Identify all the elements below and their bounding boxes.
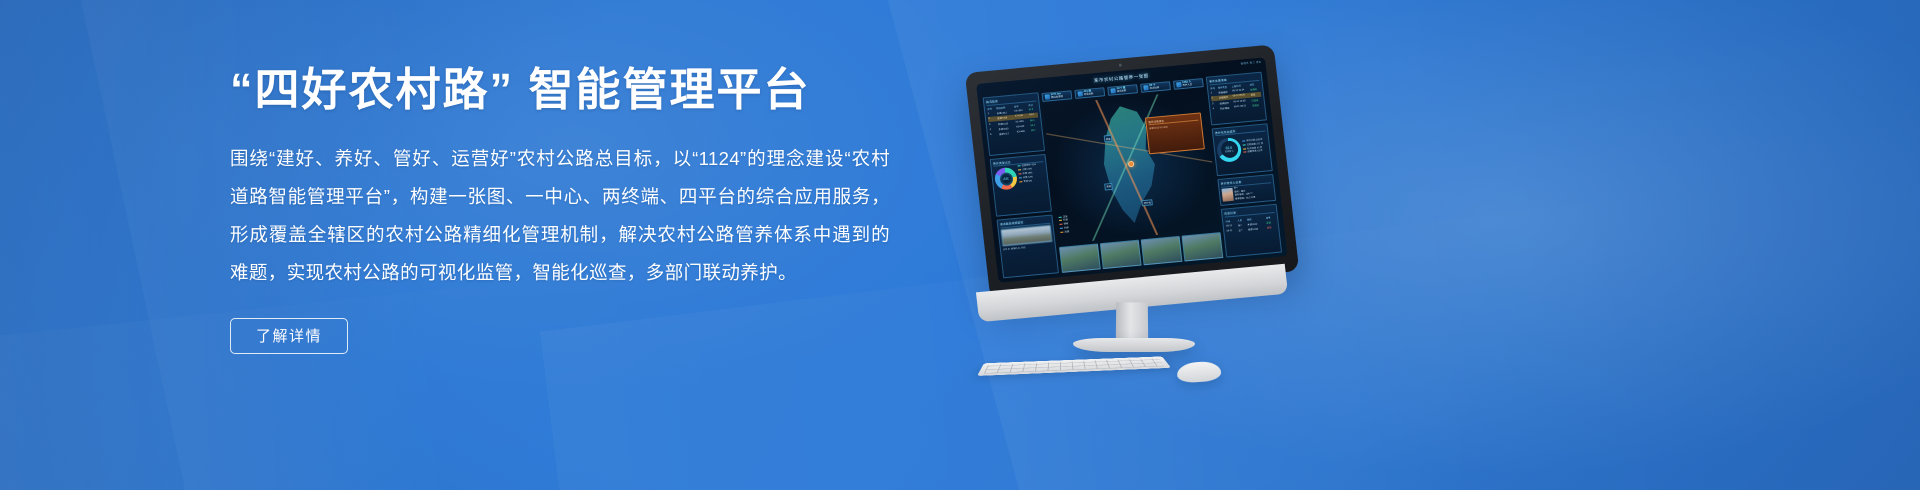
person-meta: 李** 职务：路长 联系电话：138**** 管养里程：46.2 公里 — [1234, 186, 1256, 202]
kpi-label: 涵洞总数 — [1117, 89, 1127, 93]
map-label: 养护点 — [1142, 199, 1154, 207]
webcam-icon — [1118, 64, 1121, 67]
sign-icon — [1143, 85, 1149, 90]
panel-responsible-person: 养护责任人信息 李** 职务：路长 联系电话：138**** 管养里程：46.2… — [1217, 174, 1276, 206]
dashboard: 管理员 张三 退出 某市农村公路管养一张图 路况监测 序号 路线名称 — [976, 57, 1287, 283]
cell: K3+480 — [1016, 128, 1031, 134]
road-icon — [1044, 94, 1050, 99]
panel-video-monitor: 重点路段视频监控 点位 01 摄像机 01 在线 — [997, 215, 1059, 278]
cell-score: 85.7 — [1031, 128, 1040, 134]
map-label: 涵洞 — [1104, 183, 1113, 190]
kpi-text: 3271 km 路线总里程 — [1051, 92, 1064, 99]
kpi-label: 标志标牌 — [1150, 86, 1160, 90]
gauge-unit: 完成率 % — [1225, 150, 1234, 154]
person-card: 李** 职务：路长 联系电话：138**** 管养里程：46.2 公里 — [1222, 184, 1273, 203]
donut-center-label: 占比 — [994, 166, 1019, 192]
cell: 09-11 — [1226, 228, 1238, 234]
kpi-card[interactable]: 3271 km 路线总里程 — [1041, 90, 1072, 102]
legend-item: 改建 — [1061, 231, 1070, 236]
event-table: 序号 事件类型 上报时间 状态 1 路面破损 09-12 10:24 — [1210, 82, 1263, 112]
kpi-label: 桥梁总数 — [1084, 92, 1094, 96]
cell: 09-11 08:12 — [1233, 103, 1252, 110]
monitor-screen: 管理员 张三 退出 某市农村公路管养一张图 路况监测 序号 路线名称 — [976, 57, 1287, 283]
person-detail: 管养里程：46.2 公里 — [1235, 196, 1256, 201]
dashboard-right-column: 事件处置清单 序号 事件类型 上报时间 状态 1 — [1206, 72, 1282, 258]
cell: 王** — [1238, 227, 1248, 233]
cta-row: 了解详情 — [230, 318, 890, 354]
kpi-text: 421 座 桥梁总数 — [1083, 89, 1093, 96]
cell-status: 已完成 — [1251, 102, 1262, 108]
hero-content: “四好农村路” 智能管理平台 围绕“建好、养好、管好、运营好”农村公路总目标，以… — [230, 62, 890, 354]
kpi-label: 养护人员 — [1182, 83, 1192, 87]
panel-patrol-records: 巡查记录 时间 人员 路线 结果 09-12 — [1221, 204, 1282, 258]
monitor-bezel: 管理员 张三 退出 某市农村公路管养一张图 路况监测 序号 路线名称 — [965, 44, 1300, 299]
map-info-popup: 路段详情信息 乡道X012 K2+300 — [1145, 113, 1204, 154]
cell-status: 异常 — [1266, 224, 1276, 230]
kpi-card[interactable]: 86 个 标志标牌 — [1140, 81, 1171, 93]
page-title: “四好农村路” 智能管理平台 — [230, 62, 890, 118]
hero-description: 围绕“建好、养好、管好、运营好”农村公路总目标，以“1124”的理念建设“农村道… — [230, 140, 890, 292]
cell: 积水路段 — [1220, 104, 1234, 110]
map-label: 桥梁 — [1103, 135, 1112, 142]
completion-stats: 本月计划 328 件 已完成数 271 件 在办任务 42 件 逾期任务 15 … — [1242, 139, 1264, 156]
dashboard-grid: 路况监测 序号 路线名称 桩号 评分 1 — [983, 72, 1282, 279]
kpi-label: 路线总里程 — [1051, 95, 1063, 99]
kpi-text: 1177 道 涵洞总数 — [1116, 86, 1126, 93]
road-condition-table: 序号 路线名称 桩号 评分 1 乡道X012 K2+300 — [987, 102, 1040, 137]
gauge-value-group: 82.6 完成率 % — [1216, 135, 1243, 163]
bridge-icon — [1077, 91, 1083, 96]
staff-icon — [1176, 82, 1182, 87]
legend-item: 专项 9% — [1019, 179, 1038, 184]
learn-more-button[interactable]: 了解详情 — [230, 318, 348, 354]
camera-thumbnail[interactable] — [1141, 236, 1183, 265]
kpi-card[interactable]: 1382 人 养护人员 — [1173, 78, 1204, 90]
patrol-table: 时间 人员 路线 结果 09-12 张** 乡道X012 — [1225, 214, 1277, 234]
donut-legend: 日常养护 42% 小修 21% 中修 16% 大修 12% 专项 9% — [1018, 164, 1039, 190]
map-panel[interactable]: 桥梁 涵洞 养护点 路段详情信息 乡道X012 K2+300 正常 在建 待修 — [1043, 90, 1220, 244]
desktop-computer-illustration: 管理员 张三 退出 某市农村公路管养一张图 路况监测 序号 路线名称 — [965, 50, 1295, 360]
panel-road-condition: 路况监测 序号 路线名称 桩号 评分 1 — [983, 92, 1045, 155]
kpi-text: 1382 人 养护人员 — [1182, 80, 1192, 87]
panel-event-list: 事件处置清单 序号 事件类型 上报时间 状态 1 — [1206, 72, 1267, 126]
cell: 县道Y208 — [1247, 225, 1267, 232]
panel-completion-rate: 养护任务完成率 82.6 完成率 % — [1212, 123, 1273, 177]
kpi-card[interactable]: 1177 道 涵洞总数 — [1107, 84, 1138, 96]
hero-banner: “四好农村路” 智能管理平台 围绕“建好、养好、管好、运营好”农村公路总目标，以… — [0, 0, 1920, 490]
stat-item: 逾期任务 15 件 — [1243, 150, 1264, 156]
kpi-card[interactable]: 421 座 桥梁总数 — [1074, 87, 1105, 99]
panel-maintenance-ratio: 养护类型占比 占比 日常养护 42% 小修 21% — [990, 154, 1052, 217]
cell: 县道Y117 — [998, 130, 1016, 137]
kpi-text: 86 个 标志标牌 — [1149, 83, 1159, 90]
camera-thumbnail[interactable] — [1059, 243, 1101, 272]
avatar — [1222, 188, 1234, 202]
camera-thumbnail[interactable] — [1100, 240, 1142, 269]
camera-thumbnail[interactable] — [1182, 232, 1224, 261]
culvert-icon — [1110, 88, 1116, 93]
monitor-stand-foot — [1073, 338, 1195, 352]
